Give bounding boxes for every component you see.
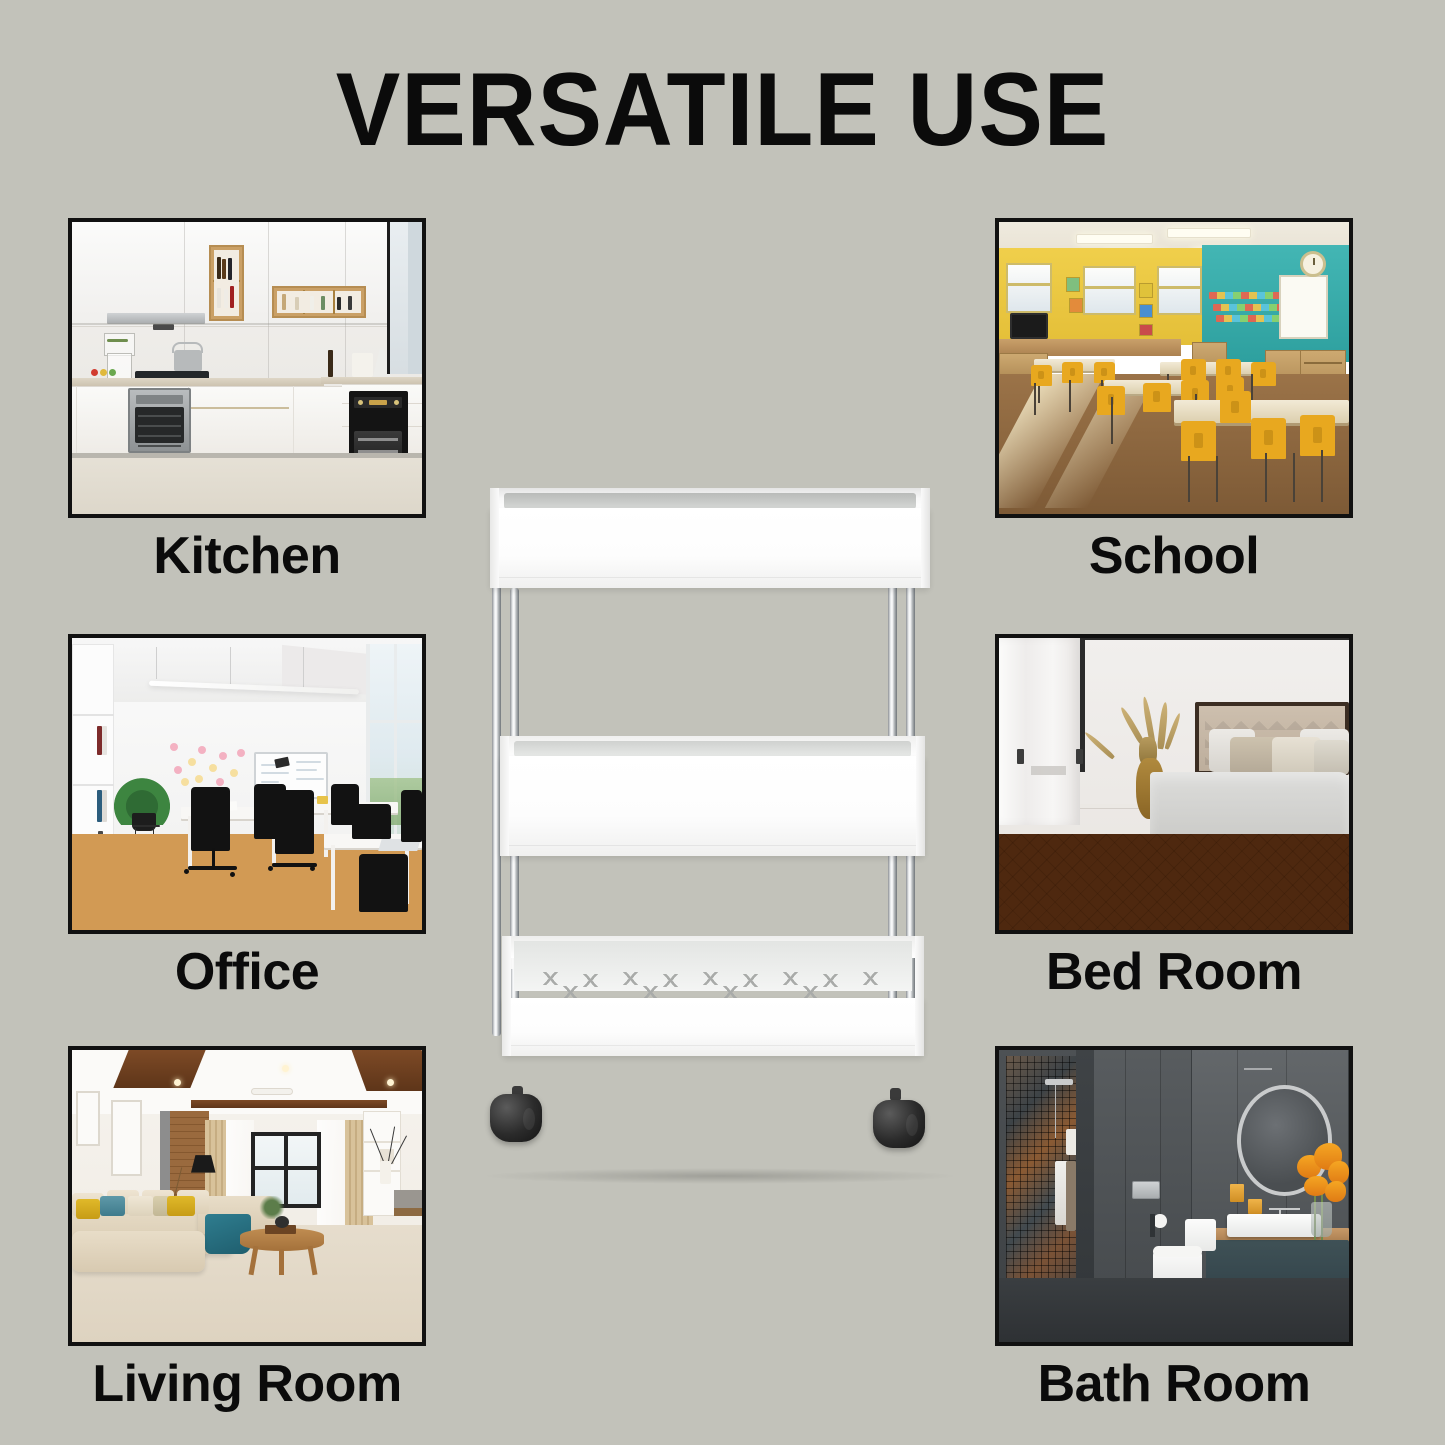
kitchen-caption: Kitchen: [68, 530, 426, 582]
bed-room-photo-frame: [995, 634, 1353, 934]
living-room-caption: Living Room: [68, 1358, 426, 1410]
office-photo: [72, 638, 422, 930]
kitchen-photo-frame: [68, 218, 426, 518]
school-photo: [999, 222, 1349, 514]
page-title: VERSATILE USE: [51, 58, 1395, 162]
living-room-photo: [72, 1050, 422, 1342]
cart-tier-bottom: [502, 936, 924, 1056]
school-caption: School: [995, 530, 1353, 582]
cart-tier-middle: [500, 736, 925, 856]
cart-tier-top: [490, 488, 930, 588]
office-photo-frame: [68, 634, 426, 934]
kitchen-photo: [72, 222, 422, 514]
bed-room-photo: [999, 638, 1349, 930]
cart-caster-front-right: [873, 1100, 925, 1148]
school-photo-frame: [995, 218, 1353, 518]
bath-room-caption: Bath Room: [995, 1358, 1353, 1410]
office-caption: Office: [68, 946, 426, 998]
bath-room-photo: [999, 1050, 1349, 1342]
infographic-canvas: VERSATILE USE: [0, 0, 1445, 1445]
living-room-photo-frame: [68, 1046, 426, 1346]
bath-room-photo-frame: [995, 1046, 1353, 1346]
product-rolling-cart: [470, 488, 970, 1178]
cart-caster-front-left: [490, 1094, 542, 1142]
cart-shadow: [480, 1168, 960, 1184]
bed-room-caption: Bed Room: [995, 946, 1353, 998]
